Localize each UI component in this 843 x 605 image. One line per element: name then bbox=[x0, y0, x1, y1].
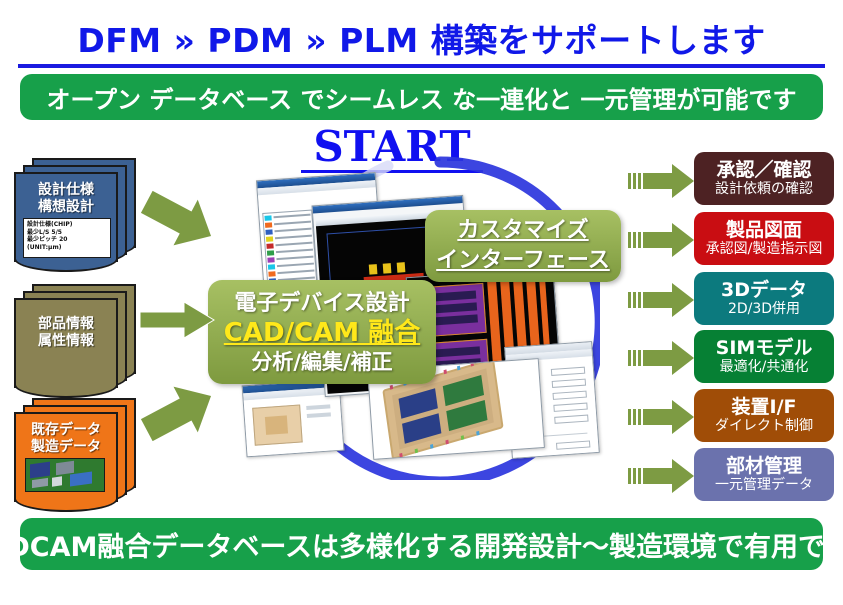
output-title-4: 装置I/F bbox=[732, 396, 797, 418]
output-title-5: 部材管理 bbox=[726, 455, 802, 477]
flow-arrow-right-4 bbox=[628, 399, 696, 435]
output-sub-1: 承認図/製造指示図 bbox=[706, 241, 823, 258]
input-doc-title-2: 既存データ製造データ bbox=[16, 422, 116, 456]
callout-main-line3: 分析/編集/補正 bbox=[251, 349, 392, 375]
title-underline bbox=[18, 64, 825, 68]
flow-arrow-left-2 bbox=[140, 380, 218, 446]
flow-arrow-right-0 bbox=[628, 163, 696, 199]
input-doc-detail-box: 設計仕様(CHIP) 最少L/S 5/5 最少ピッチ 20 (UNIT:μm) bbox=[23, 218, 111, 258]
bottom-banner: CADCAM融合データベースは多様化する開発設計～製造環境で有用です。 bbox=[20, 518, 823, 570]
output-title-0: 承認／確認 bbox=[716, 159, 811, 181]
flow-arrow-left-1 bbox=[140, 300, 216, 340]
output-title-3: SIMモデル bbox=[716, 337, 813, 359]
input-doc-stack-design-spec: 設計仕様構想設計 設計仕様(CHIP) 最少L/S 5/5 最少ピッチ 20 (… bbox=[14, 158, 132, 262]
output-box-product-drawing: 製品図面 承認図/製造指示図 bbox=[694, 212, 834, 265]
flow-arrow-right-2 bbox=[628, 282, 696, 318]
callout-customize-line1: カスタマイズ bbox=[457, 216, 588, 246]
output-box-approval: 承認／確認 設計依頼の確認 bbox=[694, 152, 834, 205]
slide-canvas: DFM » PDM » PLM 構築をサポートします オープン データベース で… bbox=[0, 0, 843, 605]
output-box-sim-model: SIMモデル 最適化/共通化 bbox=[694, 330, 834, 383]
callout-customize-line2: インターフェース bbox=[436, 246, 610, 276]
flow-arrow-left-0 bbox=[140, 186, 218, 252]
flow-arrow-right-5 bbox=[628, 458, 696, 494]
start-label-group: START bbox=[292, 126, 492, 173]
callout-cadcam-core: 電子デバイス設計 CAD/CAM 融合 分析/編集/補正 bbox=[208, 280, 436, 384]
page-title: DFM » PDM » PLM 構築をサポートします bbox=[0, 14, 843, 62]
output-sub-2: 2D/3D併用 bbox=[728, 301, 800, 318]
input-doc-stack-existing-data: 既存データ製造データ bbox=[14, 398, 132, 502]
flow-arrow-right-1 bbox=[628, 222, 696, 258]
output-box-equipment-if: 装置I/F ダイレクト制御 bbox=[694, 389, 834, 442]
callout-main-line1: 電子デバイス設計 bbox=[234, 290, 409, 317]
output-sub-5: 一元管理データ bbox=[715, 477, 813, 494]
top-banner: オープン データベース でシームレス な一連化と 一元管理が可能です bbox=[20, 74, 823, 120]
input-doc-title-1: 部品情報属性情報 bbox=[16, 316, 116, 350]
output-sub-4: ダイレクト制御 bbox=[715, 418, 813, 435]
output-box-material-mgmt: 部材管理 一元管理データ bbox=[694, 448, 834, 501]
output-sub-3: 最適化/共通化 bbox=[720, 359, 809, 376]
input-doc-stack-part-info: 部品情報属性情報 bbox=[14, 284, 132, 388]
output-title-2: 3Dデータ bbox=[721, 279, 807, 301]
pcb-photo-thumbnail bbox=[25, 458, 105, 492]
output-sub-0: 設計依頼の確認 bbox=[715, 181, 813, 198]
callout-customize-interface: カスタマイズ インターフェース bbox=[425, 210, 621, 282]
output-box-3d-data: 3Dデータ 2D/3D併用 bbox=[694, 272, 834, 325]
flow-arrow-right-3 bbox=[628, 340, 696, 376]
output-title-1: 製品図面 bbox=[726, 219, 802, 241]
input-doc-title-0: 設計仕様構想設計 bbox=[16, 182, 116, 216]
callout-main-line2: CAD/CAM 融合 bbox=[224, 317, 420, 349]
start-label: START bbox=[292, 126, 492, 168]
